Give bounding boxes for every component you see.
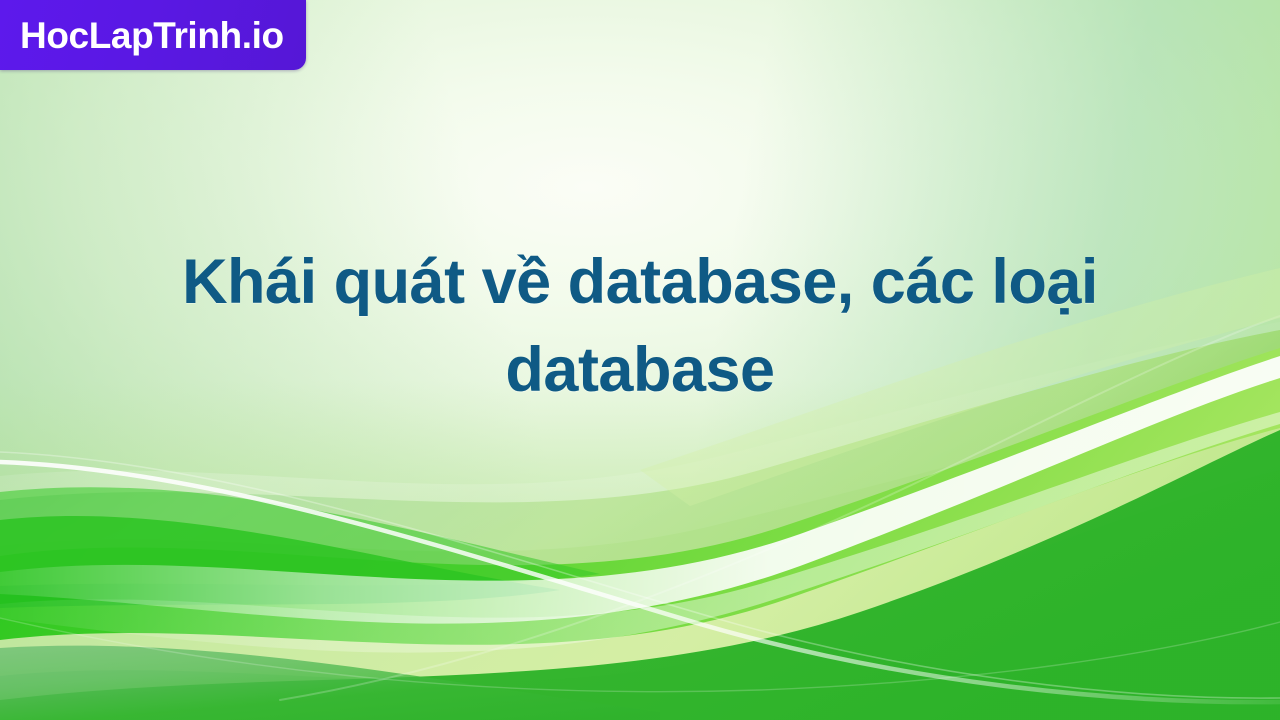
decorative-wave-graphic bbox=[0, 0, 1280, 720]
brand-badge[interactable]: HocLapTrinh.io bbox=[0, 0, 306, 70]
brand-badge-label: HocLapTrinh.io bbox=[20, 17, 284, 54]
slide-canvas: HocLapTrinh.io Khái quát về database, cá… bbox=[0, 0, 1280, 720]
